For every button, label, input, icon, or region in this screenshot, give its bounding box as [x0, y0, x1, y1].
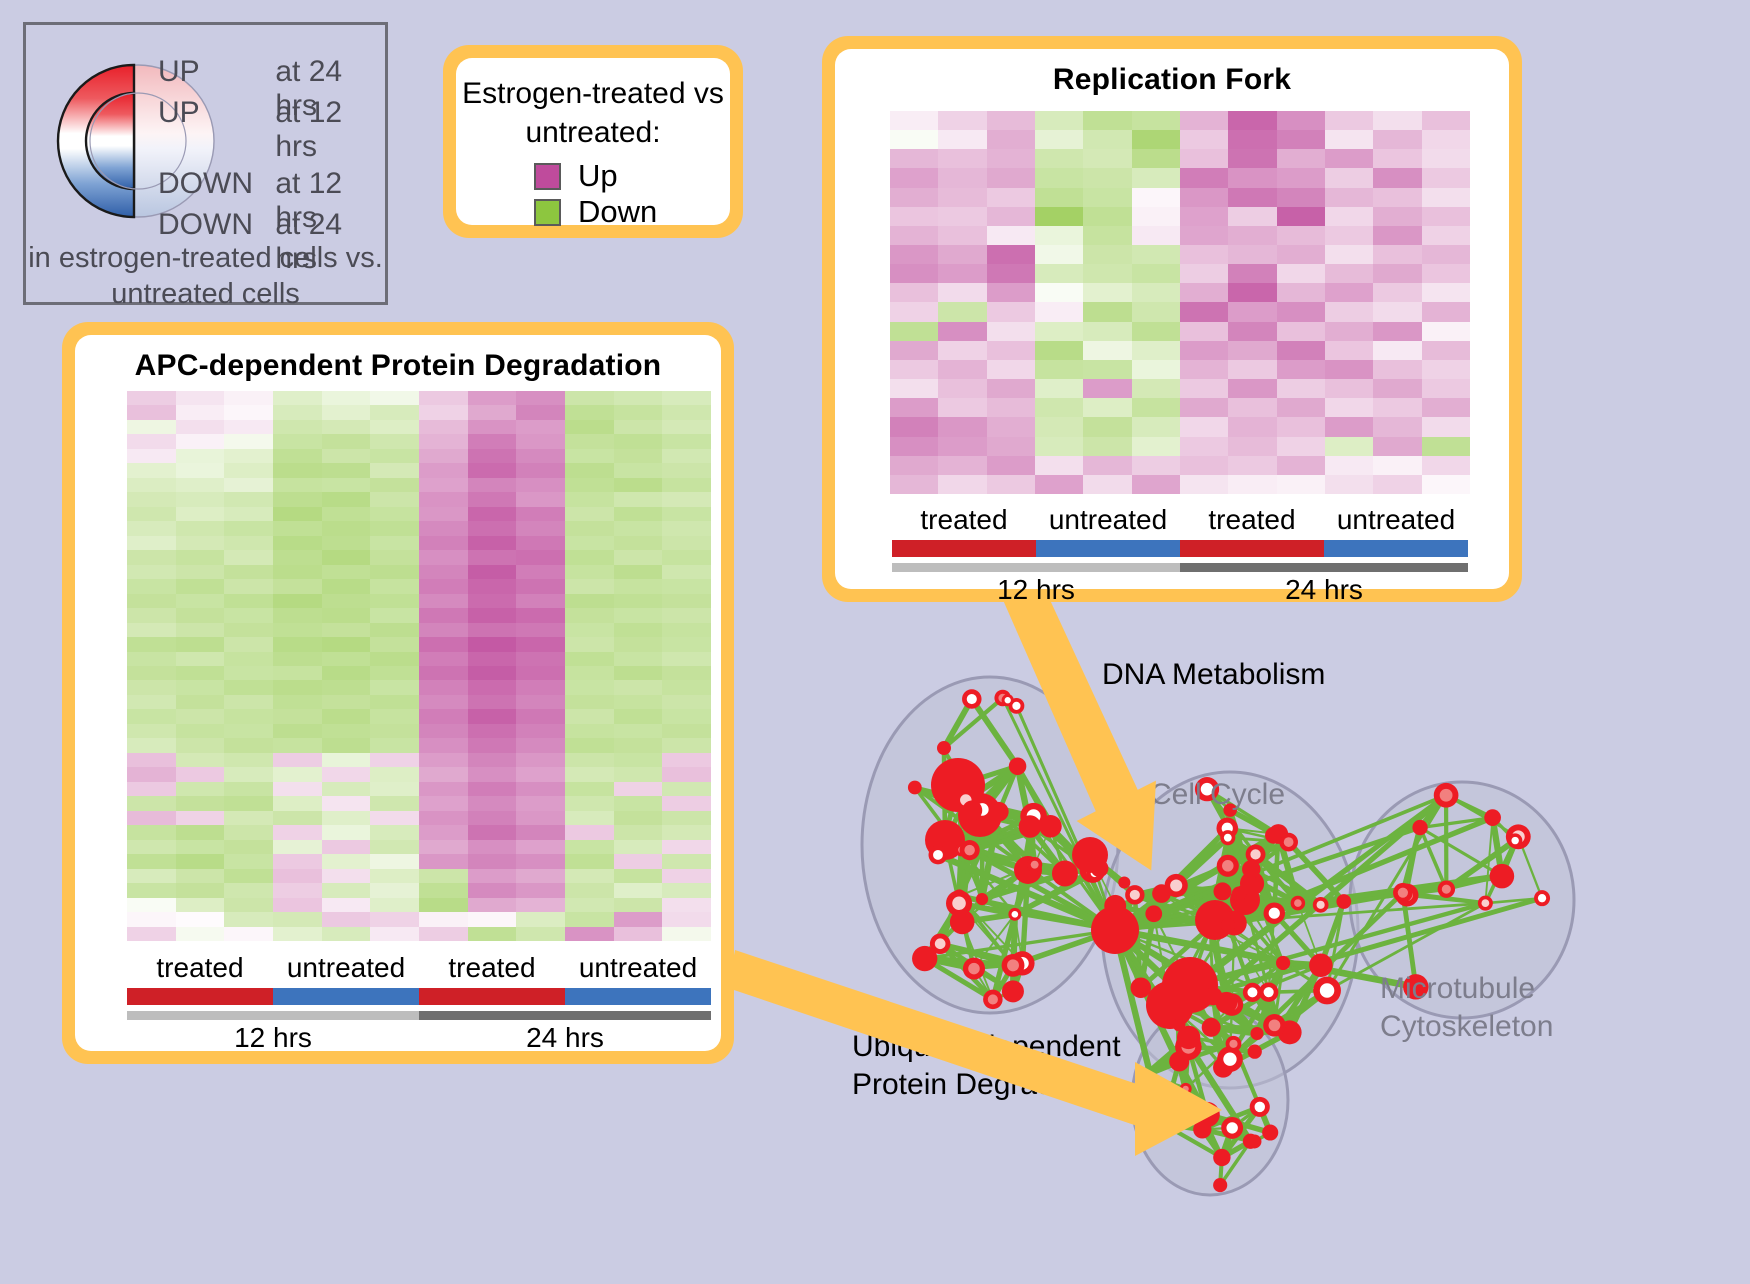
- heatmap-cell: [938, 149, 986, 168]
- heatmap-cell: [322, 507, 371, 521]
- heatmap-cell: [1035, 283, 1083, 302]
- heatmap-cell: [1132, 379, 1180, 398]
- network-node-core: [935, 938, 946, 949]
- heatmap-cell: [224, 405, 273, 419]
- heatmap-cell: [938, 226, 986, 245]
- heatmap-cell: [614, 594, 663, 608]
- heatmap-cell: [1277, 456, 1325, 475]
- heatmap-cell: [1132, 475, 1180, 494]
- heatmap-cell: [565, 579, 614, 593]
- heatmap-cell: [127, 637, 176, 651]
- heatmap-cell: [1180, 379, 1228, 398]
- heatmap-cell: [565, 434, 614, 448]
- heatmap-cell: [1373, 130, 1421, 149]
- heatmap-cell: [938, 322, 986, 341]
- heatmap-cell: [1422, 168, 1470, 187]
- heatmap-cell: [1277, 264, 1325, 283]
- heatmap-cell: [1422, 226, 1470, 245]
- heatmap-cell: [419, 594, 468, 608]
- network-node-core: [1269, 908, 1280, 919]
- heatmap-cell: [370, 869, 419, 883]
- network-node[interactable]: [989, 802, 1009, 822]
- heatmap-cell: [565, 492, 614, 506]
- network-node[interactable]: [1131, 978, 1152, 999]
- heatmap-cell: [322, 391, 371, 405]
- heatmap-cell: [1035, 207, 1083, 226]
- legend-label-down: Down: [578, 194, 657, 230]
- heatmap-cell: [1132, 360, 1180, 379]
- heatmap-cell: [1325, 207, 1373, 226]
- heatmap-cell: [370, 579, 419, 593]
- heatmap-cell: [176, 767, 225, 781]
- network-node[interactable]: [1213, 1178, 1227, 1192]
- heatmap-cell: [1035, 475, 1083, 494]
- heatmap-cell: [176, 753, 225, 767]
- heatmap-cell: [322, 666, 371, 680]
- heatmap-cell: [565, 782, 614, 796]
- network-node[interactable]: [1221, 918, 1235, 932]
- heatmap-cell: [176, 898, 225, 912]
- heatmap-cell: [370, 883, 419, 897]
- heatmap-cell: [468, 449, 517, 463]
- heatmap-cell: [370, 912, 419, 926]
- heatmap-cell: [224, 652, 273, 666]
- network-node[interactable]: [1118, 876, 1130, 888]
- heatmap-cell: [1180, 283, 1228, 302]
- network-node[interactable]: [1276, 956, 1290, 970]
- heatmap-cell: [224, 912, 273, 926]
- heatmap-cell: [1228, 226, 1276, 245]
- heatmap-cell: [1373, 379, 1421, 398]
- heatmap-cell: [273, 782, 322, 796]
- heatmap-cell: [1132, 245, 1180, 264]
- heatmap-cell: [614, 608, 663, 622]
- heatmap-cell: [1277, 245, 1325, 264]
- heatmap-cell: [419, 695, 468, 709]
- network-node[interactable]: [1213, 882, 1231, 900]
- heatmap-cell: [224, 724, 273, 738]
- heatmap-cell: [662, 492, 711, 506]
- network-node[interactable]: [1202, 1018, 1221, 1037]
- heatmap-cell: [1180, 437, 1228, 456]
- heatmap-cell: [662, 666, 711, 680]
- heatmap-cell: [1277, 379, 1325, 398]
- heatmap-cell: [938, 188, 986, 207]
- heatmap-cell: [176, 492, 225, 506]
- network-node[interactable]: [1169, 1051, 1189, 1071]
- untreated-segment: [273, 988, 419, 1005]
- heatmap-cell: [516, 565, 565, 579]
- heatmap-cell: [273, 550, 322, 564]
- apc-axis: treated untreated treated untreated 12 h: [127, 952, 711, 1054]
- heatmap-cell: [322, 579, 371, 593]
- network-node[interactable]: [1216, 992, 1238, 1014]
- heatmap-cell: [1083, 322, 1131, 341]
- heatmap-cell: [322, 420, 371, 434]
- heatmap-cell: [1035, 437, 1083, 456]
- heatmap-cell: [370, 594, 419, 608]
- heatmap-cell: [1132, 188, 1180, 207]
- group-labels: treated untreated treated untreated: [892, 504, 1468, 540]
- ring-key: DOWN: [158, 167, 275, 201]
- heatmap-cell: [565, 883, 614, 897]
- heatmap-cell: [468, 565, 517, 579]
- heatmap-cell: [273, 652, 322, 666]
- heatmap-cell: [1373, 226, 1421, 245]
- heatmap-cell: [468, 709, 517, 723]
- heatmap-cell: [987, 360, 1035, 379]
- heatmap-cell: [273, 869, 322, 883]
- network-node[interactable]: [1484, 809, 1501, 826]
- heatmap-cell: [1325, 226, 1373, 245]
- heatmap-cell: [1035, 379, 1083, 398]
- network-node-core: [1005, 697, 1011, 703]
- network-node[interactable]: [1490, 864, 1515, 889]
- heatmap-cell: [662, 449, 711, 463]
- heatmap-cell: [127, 927, 176, 941]
- heatmap-cell: [938, 168, 986, 187]
- heatmap-cell: [273, 767, 322, 781]
- time-label: 24 hrs: [419, 1022, 711, 1054]
- heatmap-cell: [176, 391, 225, 405]
- heatmap-cell: [273, 492, 322, 506]
- heatmap-cell: [516, 724, 565, 738]
- circle-legend-box: UP at 24 hrs UP at 12 hrs DOWN at 12 hrs…: [23, 22, 388, 305]
- heatmap-cell: [890, 360, 938, 379]
- heatmap-cell: [224, 680, 273, 694]
- heatmap-cell: [468, 637, 517, 651]
- network-node-core: [1031, 861, 1039, 869]
- heatmap-cell: [516, 680, 565, 694]
- heatmap-cell: [370, 652, 419, 666]
- heatmap-cell: [370, 782, 419, 796]
- heatmap-cell: [1373, 111, 1421, 130]
- heatmap-cell: [662, 579, 711, 593]
- network-node[interactable]: [1009, 757, 1027, 775]
- heatmap-cell: [614, 738, 663, 752]
- untreated-segment: [1324, 540, 1468, 557]
- heatmap-cell: [516, 840, 565, 854]
- network-node[interactable]: [937, 741, 951, 755]
- heatmap-cell: [614, 898, 663, 912]
- heatmap-cell: [224, 666, 273, 680]
- heatmap-cell: [565, 405, 614, 419]
- heatmap-cell: [127, 579, 176, 593]
- heatmap-cell: [176, 811, 225, 825]
- heatmap-cell: [176, 420, 225, 434]
- heatmap-cell: [565, 652, 614, 666]
- heatmap-cell: [468, 434, 517, 448]
- network-node-core: [1255, 1102, 1265, 1112]
- heatmap-cell: [516, 927, 565, 941]
- network-node[interactable]: [1242, 860, 1260, 878]
- updown-legend-panel: Estrogen-treated vs untreated: Up Down: [443, 45, 743, 238]
- heatmap-cell: [322, 912, 371, 926]
- heatmap-cell: [468, 738, 517, 752]
- up-color-swatch: [534, 163, 561, 190]
- heatmap-cell: [1180, 360, 1228, 379]
- heatmap-cell: [273, 927, 322, 941]
- heatmap-cell: [176, 652, 225, 666]
- network-node-core: [1538, 894, 1546, 902]
- heatmap-cell: [322, 825, 371, 839]
- ring-legend-rows: UP at 24 hrs UP at 12 hrs DOWN at 12 hrs…: [158, 55, 385, 249]
- heatmap-cell: [127, 449, 176, 463]
- heatmap-cell: [1277, 302, 1325, 321]
- heatmap-cell: [224, 550, 273, 564]
- heatmap-cell: [468, 898, 517, 912]
- heatmap-cell: [1373, 207, 1421, 226]
- heatmap-cell: [1228, 207, 1276, 226]
- heatmap-cell: [987, 168, 1035, 187]
- heatmap-cell: [273, 391, 322, 405]
- heatmap-cell: [516, 753, 565, 767]
- heatmap-cell: [273, 536, 322, 550]
- heatmap-cell: [419, 680, 468, 694]
- heatmap-cell: [370, 666, 419, 680]
- heatmap-cell: [370, 753, 419, 767]
- heatmap-cell: [516, 637, 565, 651]
- heatmap-cell: [419, 912, 468, 926]
- heatmap-cell: [987, 188, 1035, 207]
- heatmap-cell: [890, 302, 938, 321]
- heatmap-cell: [419, 854, 468, 868]
- network-node[interactable]: [1152, 884, 1171, 903]
- heatmap-cell: [1180, 226, 1228, 245]
- network-node[interactable]: [1091, 906, 1139, 954]
- heatmap-cell: [987, 111, 1035, 130]
- heatmap-cell: [468, 550, 517, 564]
- network-node-core: [1222, 860, 1234, 872]
- heatmap-cell: [273, 608, 322, 622]
- network-node[interactable]: [1155, 1117, 1168, 1130]
- heatmap-cell: [224, 796, 273, 810]
- network-node-core: [1481, 899, 1489, 907]
- heatmap-cell: [322, 738, 371, 752]
- heatmap-cell: [662, 565, 711, 579]
- heatmap-cell: [1180, 207, 1228, 226]
- heatmap-cell: [987, 302, 1035, 321]
- network-node-core: [1170, 879, 1182, 891]
- heatmap-cell: [370, 478, 419, 492]
- network-node[interactable]: [962, 800, 982, 820]
- heatmap-cell: [419, 550, 468, 564]
- replication-fork-panel: Replication Fork treated untreated treat…: [822, 36, 1522, 602]
- heatmap-cell: [516, 782, 565, 796]
- network-node[interactable]: [1412, 820, 1427, 835]
- network-node-core: [988, 994, 998, 1004]
- ring-key: UP: [158, 96, 275, 130]
- heatmap-cell: [516, 478, 565, 492]
- heatmap-cell: [565, 753, 614, 767]
- network-node-core: [1511, 837, 1518, 844]
- heatmap-cell: [938, 360, 986, 379]
- heatmap-cell: [419, 927, 468, 941]
- heatmap-cell: [273, 434, 322, 448]
- heatmap-cell: [224, 869, 273, 883]
- heatmap-cell: [1132, 322, 1180, 341]
- heatmap-cell: [370, 405, 419, 419]
- heatmap-cell: [1083, 437, 1131, 456]
- heatmap-cell: [1373, 149, 1421, 168]
- heatmap-cell: [1422, 283, 1470, 302]
- heatmap-cell: [468, 420, 517, 434]
- ring-legend-row: UP at 24 hrs: [158, 55, 385, 96]
- heatmap-cell: [662, 869, 711, 883]
- heatmap-cell: [176, 738, 225, 752]
- heatmap-cell: [516, 420, 565, 434]
- network-node[interactable]: [1250, 1027, 1263, 1040]
- heatmap-cell: [1228, 475, 1276, 494]
- network-node[interactable]: [1248, 1045, 1262, 1059]
- network-node[interactable]: [1336, 894, 1351, 909]
- heatmap-cell: [1180, 130, 1228, 149]
- network-node-core: [1141, 1072, 1148, 1079]
- heatmap-cell: [468, 869, 517, 883]
- heatmap-cell: [419, 767, 468, 781]
- network-node[interactable]: [1072, 837, 1108, 873]
- heatmap-cell: [224, 883, 273, 897]
- heatmap-cell: [987, 207, 1035, 226]
- network-node[interactable]: [908, 781, 922, 795]
- heatmap-cell: [322, 565, 371, 579]
- heatmap-cell: [273, 623, 322, 637]
- heatmap-cell: [370, 767, 419, 781]
- heatmap-cell: [1325, 111, 1373, 130]
- heatmap-cell: [468, 521, 517, 535]
- heatmap-cell: [987, 245, 1035, 264]
- heatmap-cell: [1277, 360, 1325, 379]
- heatmap-cell: [662, 782, 711, 796]
- heatmap-cell: [1132, 341, 1180, 360]
- replication-axis: treated untreated treated untreated 12 h: [892, 504, 1468, 606]
- heatmap-cell: [890, 456, 938, 475]
- network-node[interactable]: [1248, 1135, 1262, 1149]
- heatmap-cell: [468, 782, 517, 796]
- heatmap-cell: [516, 434, 565, 448]
- heatmap-cell: [419, 536, 468, 550]
- heatmap-cell: [273, 883, 322, 897]
- heatmap-cell: [370, 521, 419, 535]
- heatmap-cell: [273, 449, 322, 463]
- heatmap-cell: [938, 437, 986, 456]
- heatmap-cell: [1180, 417, 1228, 436]
- network-node[interactable]: [1146, 981, 1194, 1029]
- heatmap-cell: [127, 854, 176, 868]
- heatmap-cell: [224, 709, 273, 723]
- heatmap-cell: [938, 398, 986, 417]
- heatmap-cell: [322, 796, 371, 810]
- network-node[interactable]: [1265, 827, 1282, 844]
- heatmap-cell: [273, 825, 322, 839]
- heatmap-cell: [614, 767, 663, 781]
- network-node[interactable]: [1145, 905, 1162, 922]
- network-node-core: [1269, 1019, 1281, 1031]
- heatmap-cell: [1228, 111, 1276, 130]
- heatmap-cell: [224, 753, 273, 767]
- heatmap-cell: [127, 594, 176, 608]
- network-node[interactable]: [976, 893, 988, 905]
- heatmap-cell: [224, 492, 273, 506]
- heatmap-cell: [1083, 379, 1131, 398]
- heatmap-cell: [614, 840, 663, 854]
- heatmap-cell: [468, 796, 517, 810]
- heatmap-cell: [127, 869, 176, 883]
- heatmap-cell: [468, 594, 517, 608]
- heatmap-cell: [1422, 322, 1470, 341]
- ring-value: at 12 hrs: [275, 96, 385, 164]
- network-node[interactable]: [1019, 815, 1042, 838]
- network-node-core: [1224, 834, 1232, 842]
- heatmap-cell: [468, 579, 517, 593]
- network-node[interactable]: [1002, 980, 1024, 1002]
- network-node-core: [1223, 1052, 1236, 1065]
- heatmap-cell: [224, 521, 273, 535]
- heatmap-cell: [1035, 417, 1083, 436]
- heatmap-cell: [419, 724, 468, 738]
- heatmap-cell: [565, 391, 614, 405]
- heatmap-cell: [1035, 168, 1083, 187]
- heatmap-cell: [1228, 417, 1276, 436]
- heatmap-cell: [224, 854, 273, 868]
- heatmap-cell: [565, 420, 614, 434]
- network-node[interactable]: [1201, 918, 1219, 936]
- heatmap-cell: [890, 322, 938, 341]
- heatmap-cell: [1422, 207, 1470, 226]
- heatmap-cell: [419, 579, 468, 593]
- heatmap-cell: [1228, 341, 1276, 360]
- network-node[interactable]: [1309, 953, 1333, 977]
- network-node[interactable]: [950, 910, 975, 935]
- heatmap-cell: [322, 652, 371, 666]
- heatmap-cell: [1035, 360, 1083, 379]
- network-node[interactable]: [1213, 1149, 1230, 1166]
- heatmap-cell: [1035, 456, 1083, 475]
- heatmap-cell: [938, 475, 986, 494]
- network-node[interactable]: [1052, 861, 1078, 887]
- time-12-segment: [892, 563, 1180, 572]
- heatmap-cell: [516, 912, 565, 926]
- heatmap-cell: [1083, 302, 1131, 321]
- heatmap-cell: [224, 825, 273, 839]
- heatmap-cell: [1325, 398, 1373, 417]
- heatmap-cell: [1035, 188, 1083, 207]
- heatmap-cell: [176, 449, 225, 463]
- time-24-segment: [1180, 563, 1468, 572]
- heatmap-cell: [516, 623, 565, 637]
- heatmap-cell: [322, 449, 371, 463]
- network-node[interactable]: [1262, 1124, 1278, 1140]
- heatmap-cell: [176, 912, 225, 926]
- network-node[interactable]: [1193, 1120, 1211, 1138]
- heatmap-cell: [468, 854, 517, 868]
- heatmap-cell: [1035, 398, 1083, 417]
- heatmap-cell: [419, 796, 468, 810]
- heatmap-cell: [419, 637, 468, 651]
- network-node[interactable]: [1177, 1026, 1200, 1049]
- heatmap-cell: [224, 420, 273, 434]
- network-node-core: [1130, 890, 1140, 900]
- heatmap-cell: [516, 854, 565, 868]
- heatmap-cell: [370, 608, 419, 622]
- heatmap-cell: [565, 898, 614, 912]
- heatmap-cell: [614, 912, 663, 926]
- heatmap-cell: [1373, 475, 1421, 494]
- heatmap-cell: [224, 623, 273, 637]
- heatmap-cell: [419, 492, 468, 506]
- network-diagram: DNA Metabolism Cell Cycle Microtubule Cy…: [790, 600, 1750, 1279]
- heatmap-cell: [370, 449, 419, 463]
